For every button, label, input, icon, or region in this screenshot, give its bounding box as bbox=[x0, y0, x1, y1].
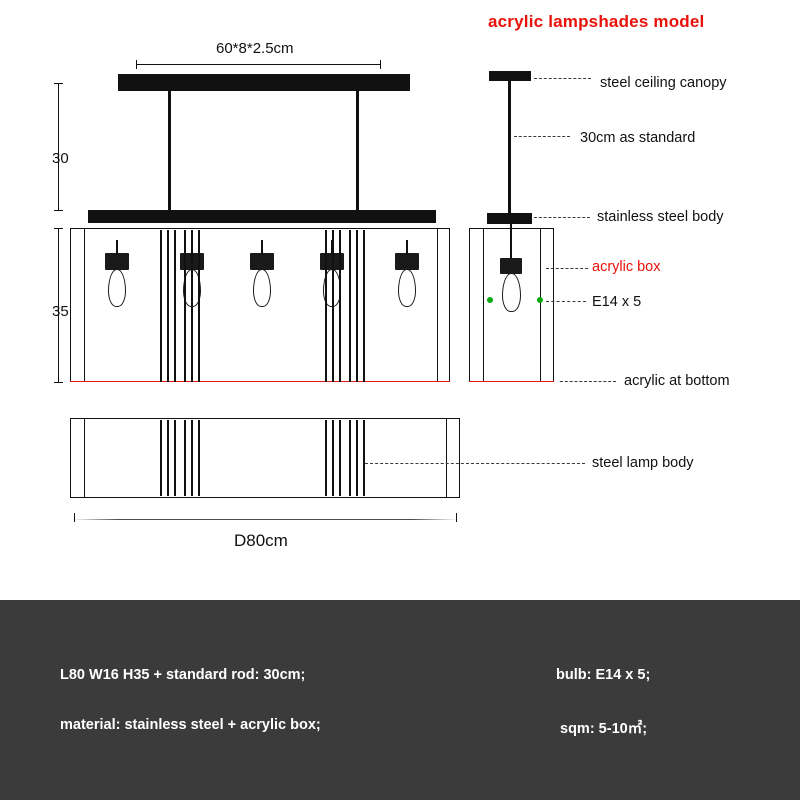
crystal-rod-plan-b4 bbox=[349, 420, 351, 496]
bulb-stem-side bbox=[510, 224, 512, 260]
crystal-rod-front-b6 bbox=[363, 230, 365, 382]
crystal-rod-plan-b6 bbox=[363, 420, 365, 496]
width-dimension-label: D80cm bbox=[234, 531, 288, 551]
leader-line-steel-body bbox=[534, 217, 590, 218]
crystal-rod-plan-b3 bbox=[339, 420, 341, 496]
spec-left-line-2: material: stainless steel + acrylic box; bbox=[60, 717, 321, 733]
bulb-glass-3 bbox=[253, 269, 271, 307]
plan-view-inner-edge-left bbox=[84, 419, 85, 497]
callout-bulb-count: E14 x 5 bbox=[592, 294, 641, 310]
crystal-rod-front-a4 bbox=[184, 230, 186, 382]
top-bar-dimension-label: 60*8*2.5cm bbox=[216, 40, 294, 57]
crystal-rod-front-b5 bbox=[356, 230, 358, 382]
steel-ceiling-canopy bbox=[489, 71, 531, 81]
bulb-socket-5 bbox=[395, 253, 419, 270]
crystal-rod-front-a5 bbox=[191, 230, 193, 382]
leader-line-steel-lamp-body bbox=[365, 463, 585, 464]
top-bar-dimension-tick-left bbox=[136, 60, 137, 69]
down-rod bbox=[508, 81, 511, 213]
acrylic-box-side-inner-left bbox=[483, 229, 484, 381]
plan-view-inner-edge-right bbox=[446, 419, 447, 497]
rod-height-bracket bbox=[58, 83, 59, 210]
callout-steel-lamp-body: steel lamp body bbox=[592, 455, 694, 471]
crystal-rod-front-a6 bbox=[198, 230, 200, 382]
crystal-rod-front-b1 bbox=[325, 230, 327, 382]
bulb-socket-1 bbox=[105, 253, 129, 270]
top-bar-dimension-line bbox=[136, 64, 380, 65]
leader-line-rod bbox=[514, 136, 570, 137]
callout-stainless-steel-body: stainless steel body bbox=[597, 209, 724, 225]
bulb-marker-left-dot bbox=[487, 297, 493, 303]
bulb-glass-5 bbox=[398, 269, 416, 307]
body-height-tick-bottom bbox=[54, 382, 63, 383]
bulb-stem-5 bbox=[406, 240, 408, 255]
page-title: acrylic lampshades model bbox=[488, 12, 704, 32]
crystal-rod-plan-b5 bbox=[356, 420, 358, 496]
leader-line-acrylic-bottom bbox=[560, 381, 616, 382]
plan-view-body bbox=[70, 418, 460, 498]
bulb-stem-1 bbox=[116, 240, 118, 255]
crystal-rod-front-a3 bbox=[174, 230, 176, 382]
bulb-marker-right-dot bbox=[537, 297, 543, 303]
crystal-rod-front-a1 bbox=[160, 230, 162, 382]
top-bar-dimension-tick-right bbox=[380, 60, 381, 69]
width-dimension-tick-right bbox=[456, 513, 457, 522]
rod-height-tick-top bbox=[54, 83, 63, 84]
lamp-top-plate bbox=[88, 210, 436, 223]
acrylic-box-front-inner-edge-left bbox=[84, 229, 85, 381]
crystal-rod-plan-b1 bbox=[325, 420, 327, 496]
callout-acrylic-at-bottom: acrylic at bottom bbox=[624, 373, 730, 389]
callout-standard-rod: 30cm as standard bbox=[580, 130, 695, 146]
rod-height-tick-bottom bbox=[54, 210, 63, 211]
acrylic-box-side-inner-right bbox=[540, 229, 541, 381]
suspension-rod-left bbox=[168, 91, 171, 210]
bulb-glass-side bbox=[502, 273, 521, 312]
crystal-rod-front-b3 bbox=[339, 230, 341, 382]
crystal-rod-front-b2 bbox=[332, 230, 334, 382]
acrylic-bottom-side bbox=[469, 381, 554, 382]
crystal-rod-plan-b2 bbox=[332, 420, 334, 496]
crystal-rod-plan-a5 bbox=[191, 420, 193, 496]
crystal-rod-plan-a2 bbox=[167, 420, 169, 496]
callout-steel-ceiling-canopy: steel ceiling canopy bbox=[600, 75, 727, 91]
callout-acrylic-box: acrylic box bbox=[592, 259, 661, 275]
body-height-label: 35 bbox=[52, 303, 69, 320]
crystal-rod-front-b4 bbox=[349, 230, 351, 382]
acrylic-bottom-front bbox=[70, 381, 450, 382]
width-dimension-tick-left bbox=[74, 513, 75, 522]
bulb-socket-3 bbox=[250, 253, 274, 270]
bulb-glass-1 bbox=[108, 269, 126, 307]
suspension-rod-right bbox=[356, 91, 359, 210]
body-height-tick-top bbox=[54, 228, 63, 229]
width-dimension-line bbox=[72, 519, 458, 520]
rod-height-label: 30 bbox=[52, 150, 69, 167]
bulb-stem-3 bbox=[261, 240, 263, 255]
spec-panel bbox=[0, 600, 800, 800]
crystal-rod-plan-a6 bbox=[198, 420, 200, 496]
leader-line-bulb-count bbox=[546, 301, 586, 302]
crystal-rod-plan-a4 bbox=[184, 420, 186, 496]
bulb-socket-side bbox=[500, 258, 522, 274]
leader-line-canopy bbox=[534, 78, 591, 79]
acrylic-box-front-inner-edge bbox=[437, 229, 438, 381]
ceiling-mount-bar bbox=[118, 74, 410, 91]
diagram-canvas: acrylic lampshades model 60*8*2.5cm 30 bbox=[0, 0, 800, 800]
stainless-steel-body-plate bbox=[487, 213, 532, 224]
leader-line-acrylic-box bbox=[546, 268, 588, 269]
spec-right-line-1: bulb: E14 x 5; bbox=[556, 667, 650, 683]
crystal-rod-plan-a3 bbox=[174, 420, 176, 496]
crystal-rod-plan-a1 bbox=[160, 420, 162, 496]
spec-right-line-2: sqm: 5-10㎡; bbox=[560, 717, 647, 738]
crystal-rod-front-a2 bbox=[167, 230, 169, 382]
spec-left-line-1: L80 W16 H35 + standard rod: 30cm; bbox=[60, 667, 305, 683]
